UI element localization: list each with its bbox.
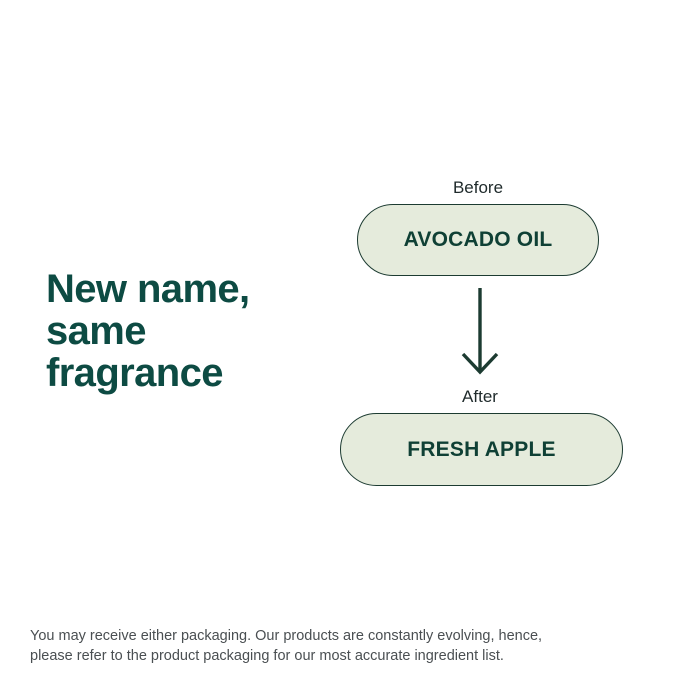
arrow-down-glyph bbox=[455, 286, 505, 376]
after-product-pill: FRESH APPLE bbox=[340, 413, 623, 486]
disclaimer-line-1: You may receive either packaging. Our pr… bbox=[30, 626, 630, 646]
before-caption: Before bbox=[378, 178, 578, 198]
before-product-pill: AVOCADO OIL bbox=[357, 204, 599, 276]
after-caption: After bbox=[380, 387, 580, 407]
arrow-down-icon bbox=[455, 286, 505, 376]
product-rename-infographic: New name, same fragrance Before AVOCADO … bbox=[0, 0, 679, 679]
headline-line-1: New name, bbox=[46, 268, 346, 310]
disclaimer-text: You may receive either packaging. Our pr… bbox=[30, 626, 630, 666]
after-product-label: FRESH APPLE bbox=[407, 438, 555, 462]
page-title: New name, same fragrance bbox=[46, 268, 346, 394]
disclaimer-line-2: please refer to the product packaging fo… bbox=[30, 646, 630, 666]
headline-line-3: fragrance bbox=[46, 352, 346, 394]
before-product-label: AVOCADO OIL bbox=[404, 228, 553, 252]
headline-line-2: same bbox=[46, 310, 346, 352]
